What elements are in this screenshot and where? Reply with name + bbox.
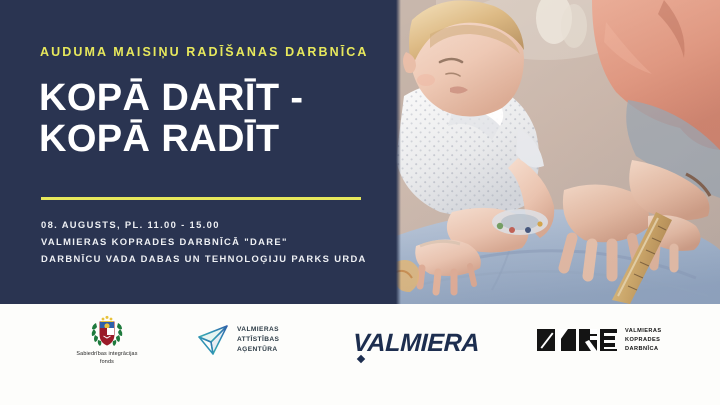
latvia-coat-of-arms-icon bbox=[90, 314, 124, 348]
event-photo bbox=[396, 0, 720, 304]
logo-dare-caption: VALMIERAS KOPRADES DARBNĪCA bbox=[625, 327, 662, 354]
arrow-triangle-icon bbox=[196, 324, 230, 356]
logo-valmieras-attistibas-agentura: VALMIERAS ATTĪSTĪBAS AĢENTŪRA bbox=[196, 324, 279, 356]
event-date-time: 08. AUGUSTS, PL. 11.00 - 15.00 bbox=[41, 216, 367, 233]
logo-vaa-caption: VALMIERAS ATTĪSTĪBAS AĢENTŪRA bbox=[237, 325, 279, 355]
poster-banner: AUDUMA MAISIŅU RADĪŠANAS DARBNĪCA KOPĀ D… bbox=[0, 0, 720, 304]
event-poster: AUDUMA MAISIŅU RADĪŠANAS DARBNĪCA KOPĀ D… bbox=[0, 0, 720, 405]
event-organizer: DARBNĪCU VADA DABAS UN TEHNOLOĢIJU PARKS… bbox=[41, 250, 367, 267]
dare-wordmark-icon bbox=[537, 327, 617, 353]
sponsor-footer: Sabiedrības integrācijas fonds bbox=[0, 304, 720, 405]
logo-valmiera: VALMIERA bbox=[353, 331, 479, 356]
yellow-divider-rule bbox=[41, 197, 361, 200]
poster-text-block: AUDUMA MAISIŅU RADĪŠANAS DARBNĪCA KOPĀ D… bbox=[40, 0, 385, 304]
poster-headline: KOPĀ DARĪT - KOPĀ RADĪT bbox=[39, 78, 303, 161]
logo-valmiera-wordmark: VALMIERA bbox=[353, 331, 480, 356]
logo-sabiedribas-integracijas-fonds: Sabiedrības integrācijas fonds bbox=[42, 314, 172, 367]
event-details: 08. AUGUSTS, PL. 11.00 - 15.00 VALMIERAS… bbox=[41, 216, 367, 267]
logo-sif-caption: Sabiedrības integrācijas fonds bbox=[76, 351, 137, 367]
event-location: VALMIERAS KOPRADES DARBNĪCĀ "DARE" bbox=[41, 233, 367, 250]
logo-dare: VALMIERAS KOPRADES DARBNĪCA bbox=[537, 327, 662, 354]
poster-kicker: AUDUMA MAISIŅU RADĪŠANAS DARBNĪCA bbox=[40, 45, 369, 59]
